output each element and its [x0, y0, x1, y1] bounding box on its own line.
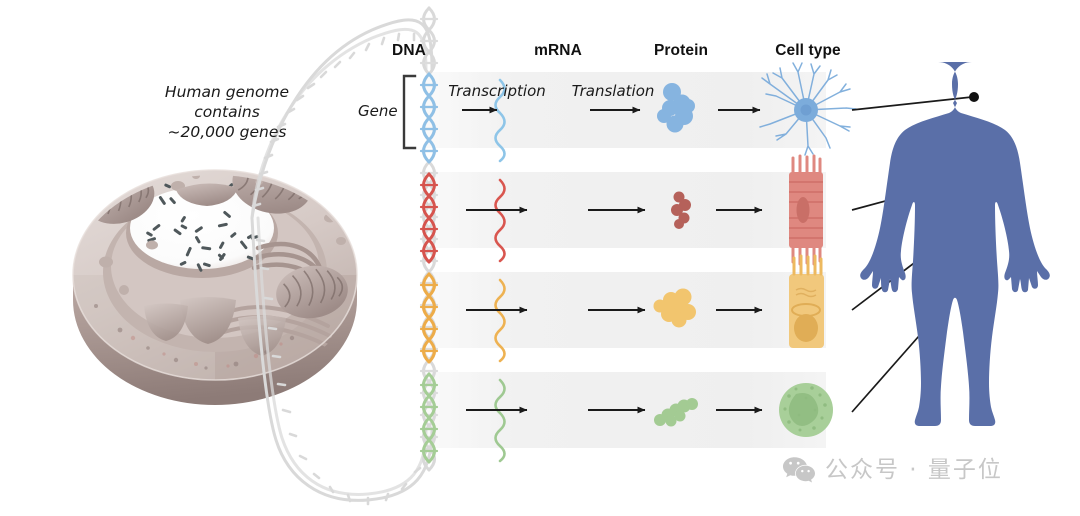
protein-blob-neuron	[657, 83, 695, 133]
protein-blob-muscle	[671, 192, 691, 230]
column-header-dna: DNA	[392, 42, 426, 60]
mrna-intestinal	[496, 280, 505, 361]
cell-type-white-blood-cell	[779, 383, 833, 437]
protein-blob-intestinal	[654, 289, 697, 328]
genome-caption: Human genome contains ~20,000 genes	[127, 82, 327, 142]
genome-caption-line-1: Human genome	[127, 82, 327, 102]
eukaryotic-cell-illustration	[73, 149, 357, 405]
column-header-protein: Protein	[654, 42, 708, 60]
dna-helix-column	[421, 8, 437, 470]
watermark-text: 公众号 · 量子位	[825, 459, 1003, 482]
diagram-vector-layer	[0, 0, 1080, 516]
column-header-cell-type: Cell type	[775, 42, 841, 60]
watermark: 公众号 · 量子位	[782, 456, 1003, 484]
mrna-blood	[496, 380, 505, 461]
cell-type-muscle-fiber	[789, 156, 823, 264]
mrna-strands	[496, 80, 505, 461]
mrna-muscle	[496, 180, 505, 261]
transcription-label: Transcription	[448, 82, 546, 100]
cell-type-intestinal-cell	[789, 256, 824, 348]
leader-dot-head	[969, 92, 979, 102]
wechat-icon	[782, 456, 816, 484]
cell-type-neuron	[760, 63, 856, 155]
genome-caption-line-2: contains	[127, 102, 327, 122]
figure-canvas: DNA mRNA Protein Cell type Transcription…	[0, 0, 1080, 516]
column-header-mrna: mRNA	[534, 42, 582, 60]
microvilli	[794, 256, 821, 274]
protein-blob-blood	[654, 398, 698, 427]
process-arrows	[462, 110, 762, 410]
translation-label: Translation	[572, 82, 655, 100]
dna-gene-segment-neuron	[421, 74, 437, 162]
genome-caption-line-3: ~20,000 genes	[127, 122, 327, 142]
gene-bracket	[404, 76, 415, 148]
gene-label: Gene	[358, 102, 398, 120]
